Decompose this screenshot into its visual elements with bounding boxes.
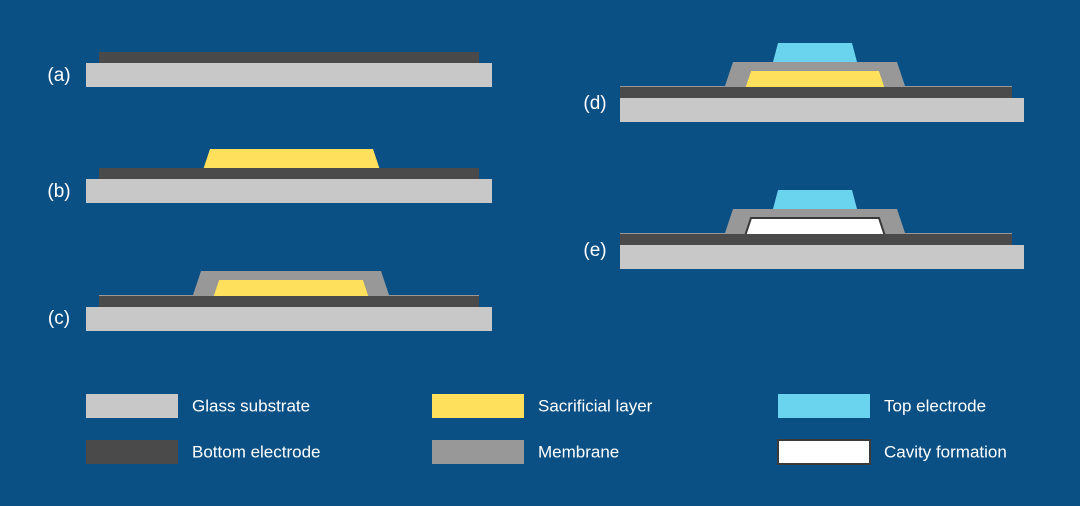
cavity-formation-label: Cavity formation bbox=[884, 442, 1007, 461]
glass-substrate-label: Glass substrate bbox=[192, 396, 310, 415]
bottom-electrode-label: Bottom electrode bbox=[192, 442, 321, 461]
panel-b-label: (b) bbox=[47, 181, 70, 202]
panel-d-bottom-electrode bbox=[620, 87, 1012, 98]
fabrication-process-figure: (a) (b) (c) (d) (e) bbox=[0, 0, 1080, 506]
cavity-formation-swatch bbox=[778, 440, 870, 464]
panel-b-glass-substrate bbox=[86, 179, 492, 203]
legend-item-cavity-formation: Cavity formation bbox=[778, 440, 1007, 464]
membrane-label: Membrane bbox=[538, 442, 619, 461]
panel-c-bottom-electrode bbox=[99, 296, 479, 307]
panel-a-label: (a) bbox=[47, 65, 70, 86]
panel-d-glass-substrate bbox=[620, 98, 1024, 122]
panel-a: (a) bbox=[47, 52, 492, 87]
panel-a-glass-substrate bbox=[86, 63, 492, 87]
panel-d-label: (d) bbox=[583, 93, 606, 114]
legend-item-sacrificial-layer: Sacrificial layer bbox=[432, 394, 653, 418]
panel-a-bottom-electrode bbox=[99, 52, 479, 63]
legend-item-bottom-electrode: Bottom electrode bbox=[86, 440, 321, 464]
sacrificial-layer-swatch bbox=[432, 394, 524, 418]
top-electrode-label: Top electrode bbox=[884, 396, 986, 415]
panel-c-glass-substrate bbox=[86, 307, 492, 331]
sacrificial-layer-label: Sacrificial layer bbox=[538, 396, 653, 415]
panel-e-bottom-electrode bbox=[620, 234, 1012, 245]
panel-e-glass-substrate bbox=[620, 245, 1024, 269]
legend-item-glass-substrate: Glass substrate bbox=[86, 394, 310, 418]
membrane-swatch bbox=[432, 440, 524, 464]
panel-e-top-electrode bbox=[773, 190, 857, 209]
panel-c-label: (c) bbox=[48, 308, 70, 329]
panel-d-top-electrode bbox=[773, 43, 857, 62]
bottom-electrode-swatch bbox=[86, 440, 178, 464]
top-electrode-swatch bbox=[778, 394, 870, 418]
panel-e-label: (e) bbox=[583, 240, 606, 261]
glass-substrate-swatch bbox=[86, 394, 178, 418]
panel-b-bottom-electrode bbox=[99, 168, 479, 179]
